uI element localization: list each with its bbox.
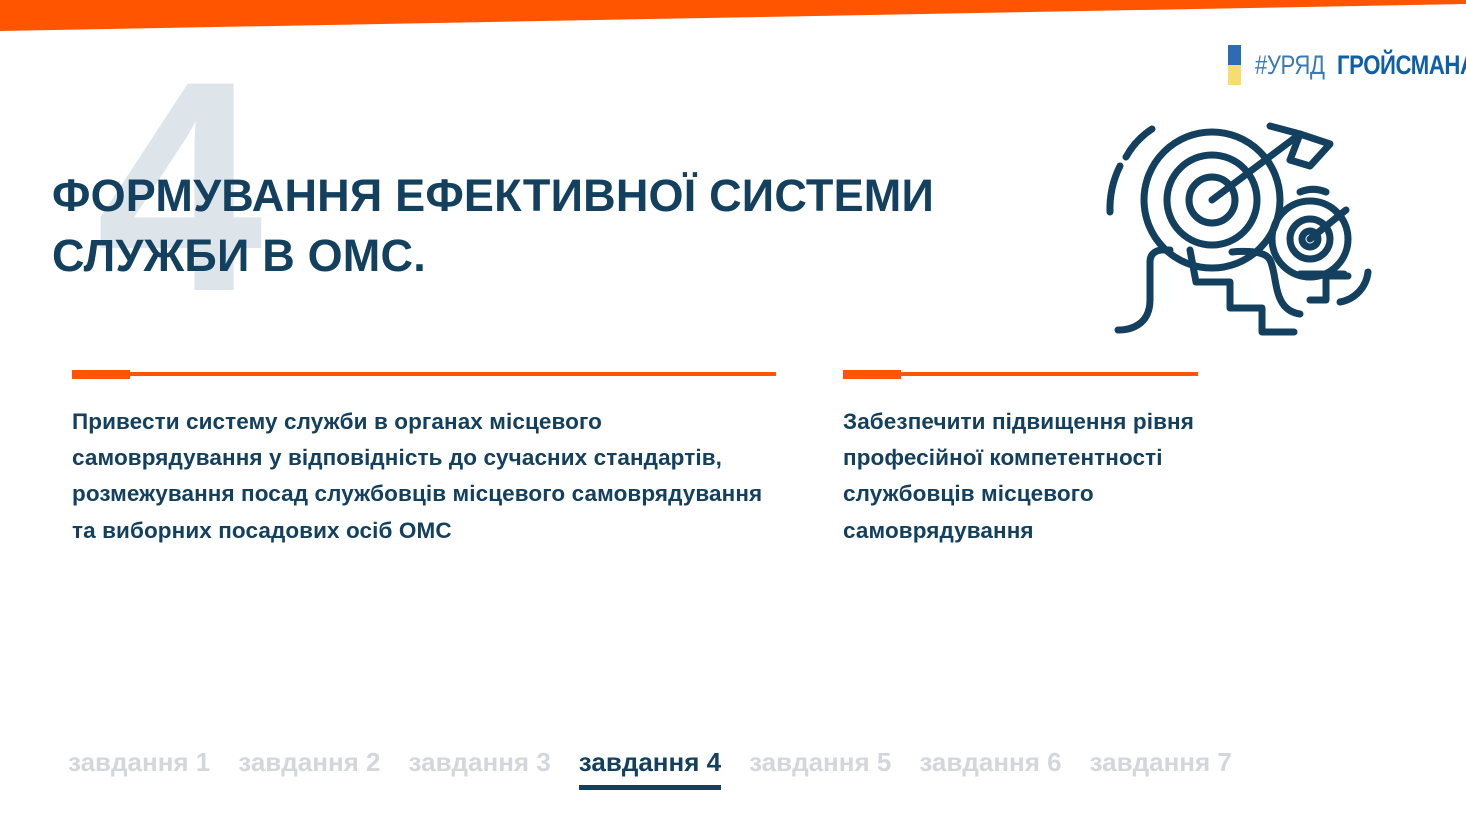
tab-task-2[interactable]: завдання 2 [238, 748, 380, 790]
content-text-left: Привести систему служби в органах місцев… [72, 404, 776, 550]
brand-hashtag-light: #УРЯД [1255, 52, 1325, 79]
tab-task-3[interactable]: завдання 3 [409, 748, 551, 790]
content-column-right: Забезпечити підвищення рівня професійної… [843, 370, 1198, 572]
flag-blue-stripe [1228, 45, 1241, 65]
content-text-right: Забезпечити підвищення рівня професійної… [843, 404, 1198, 550]
tab-task-1[interactable]: завдання 1 [68, 748, 210, 790]
tab-task-6[interactable]: завдання 6 [919, 748, 1061, 790]
brand-logo: #УРЯД ГРОЙСМАНА [1228, 45, 1466, 85]
tab-task-5[interactable]: завдання 5 [749, 748, 891, 790]
task-tab-nav: завдання 1 завдання 2 завдання 3 завданн… [68, 748, 1232, 790]
page-title: ФОРМУВАННЯ ЕФЕКТИВНОЇ СИСТЕМИ СЛУЖБИ В О… [52, 166, 1012, 285]
accent-bar-left [72, 370, 776, 381]
tab-task-7[interactable]: завдання 7 [1090, 748, 1232, 790]
accent-bar-right [843, 370, 1198, 381]
accent-bar-left-block [72, 370, 130, 379]
content-column-left: Привести систему служби в органах місцев… [72, 370, 776, 572]
tab-task-4[interactable]: завдання 4 [579, 748, 721, 790]
brand-hashtag: #УРЯД ГРОЙСМАНА [1255, 52, 1466, 79]
ukraine-flag-icon [1228, 45, 1241, 85]
target-arrow-stairs-icon [1104, 104, 1380, 336]
flag-yellow-stripe [1228, 65, 1241, 85]
accent-bar-left-line [72, 372, 776, 376]
slide-root: #УРЯД ГРОЙСМАНА 4 ФОРМУВАННЯ ЕФЕКТИВНОЇ … [0, 0, 1466, 824]
brand-hashtag-bold: ГРОЙСМАНА [1337, 52, 1466, 79]
accent-bar-right-block [843, 370, 901, 379]
